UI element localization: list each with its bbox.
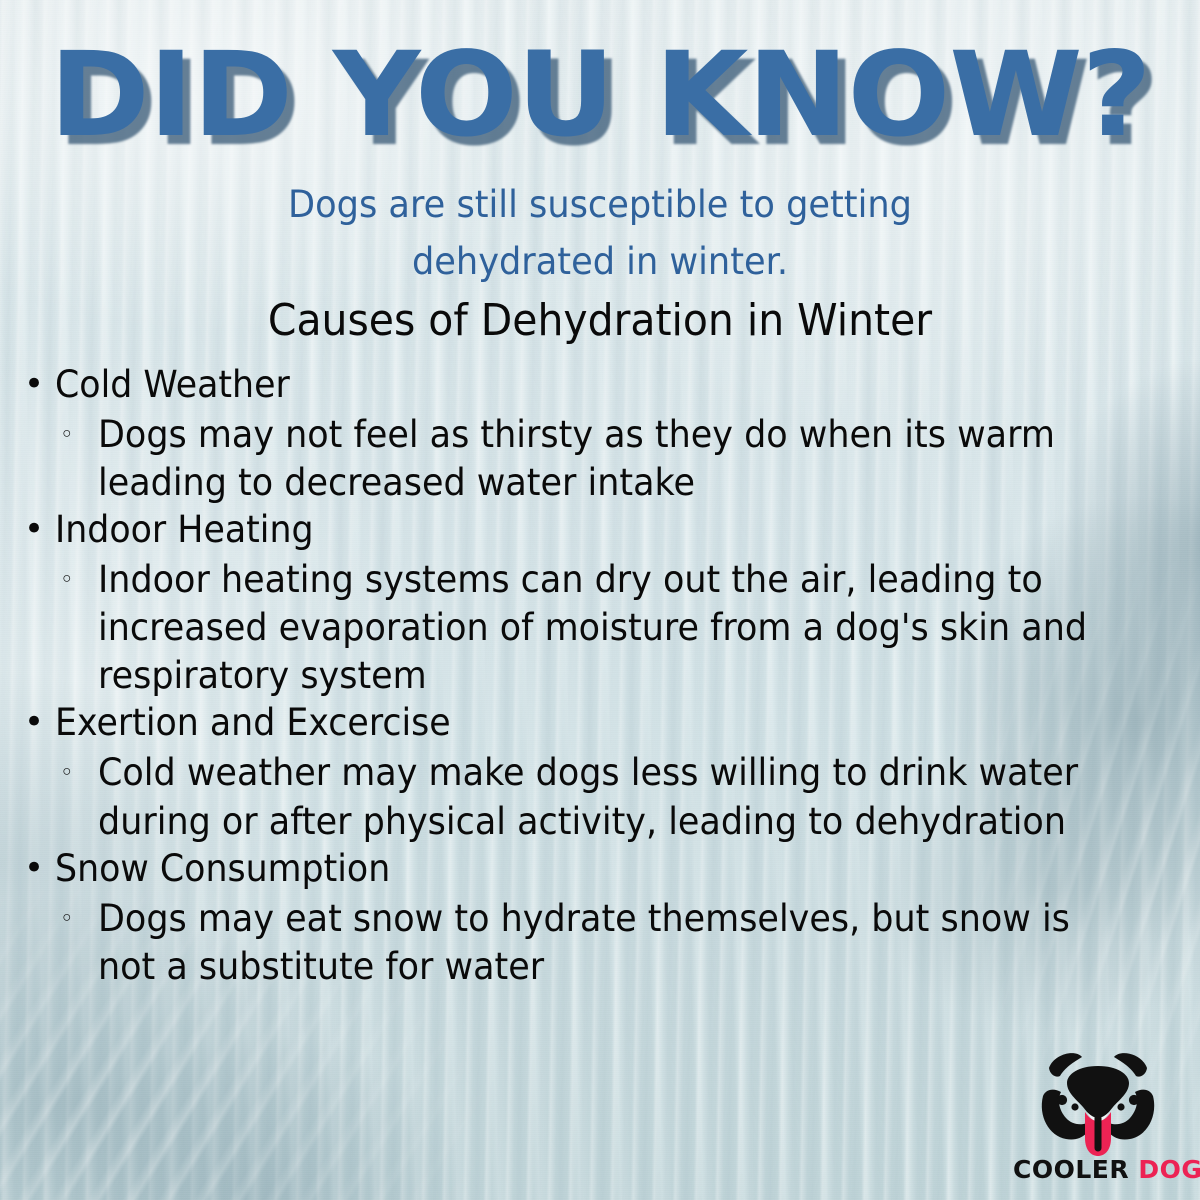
- section-heading: Causes of Dehydration in Winter: [42, 296, 1158, 347]
- sub-bullet-icon: ◦: [60, 749, 98, 797]
- cause-detail-row: ◦ Dogs may eat snow to hydrate themselve…: [24, 895, 1184, 991]
- infographic-poster: DID YOU KNOW? Dogs are still susceptible…: [0, 0, 1200, 1200]
- list-item: • Indoor Heating ◦ Indoor heating system…: [24, 507, 1184, 700]
- cause-detail: Indoor heating systems can dry out the a…: [98, 556, 1124, 700]
- sub-bullet-icon: ◦: [60, 895, 98, 943]
- cause-detail-row: ◦ Cold weather may make dogs less willin…: [24, 749, 1184, 845]
- cause-title: Indoor Heating: [55, 507, 314, 554]
- logo-word-cooler: COOLER: [1013, 1155, 1129, 1184]
- cause-detail: Dogs may not feel as thirsty as they do …: [98, 411, 1124, 507]
- subtitle: Dogs are still susceptible to getting de…: [192, 176, 1009, 291]
- page-title: DID YOU KNOW?: [0, 38, 1200, 155]
- cause-detail-row: ◦ Indoor heating systems can dry out the…: [24, 556, 1184, 700]
- dog-face-logo-icon: [1035, 1052, 1161, 1156]
- cause-detail-row: ◦ Dogs may not feel as thirsty as they d…: [24, 411, 1184, 507]
- causes-list: • Cold Weather ◦ Dogs may not feel as th…: [24, 362, 1184, 991]
- logo-word-dog: DOG: [1138, 1155, 1200, 1184]
- bullet-icon: •: [24, 846, 55, 890]
- cause-title-row: • Indoor Heating: [24, 507, 1184, 554]
- sub-bullet-icon: ◦: [60, 411, 98, 459]
- brand-logo: COOLER DOG: [1013, 1052, 1183, 1192]
- list-item: • Snow Consumption ◦ Dogs may eat snow t…: [24, 846, 1184, 991]
- list-item: • Cold Weather ◦ Dogs may not feel as th…: [24, 362, 1184, 507]
- cause-title-row: • Cold Weather: [24, 362, 1184, 409]
- cause-title-row: • Snow Consumption: [24, 846, 1184, 893]
- cause-title-row: • Exertion and Excercise: [24, 700, 1184, 747]
- sub-bullet-icon: ◦: [60, 556, 98, 604]
- cause-title: Cold Weather: [55, 362, 290, 409]
- logo-wordmark: COOLER DOG: [1013, 1156, 1183, 1184]
- cause-title: Exertion and Excercise: [55, 700, 451, 747]
- bullet-icon: •: [24, 507, 55, 551]
- bullet-icon: •: [24, 362, 55, 406]
- cause-detail: Dogs may eat snow to hydrate themselves,…: [98, 895, 1124, 991]
- cause-title: Snow Consumption: [55, 846, 390, 893]
- cause-detail: Cold weather may make dogs less willing …: [98, 749, 1124, 845]
- bullet-icon: •: [24, 700, 55, 744]
- list-item: • Exertion and Excercise ◦ Cold weather …: [24, 700, 1184, 845]
